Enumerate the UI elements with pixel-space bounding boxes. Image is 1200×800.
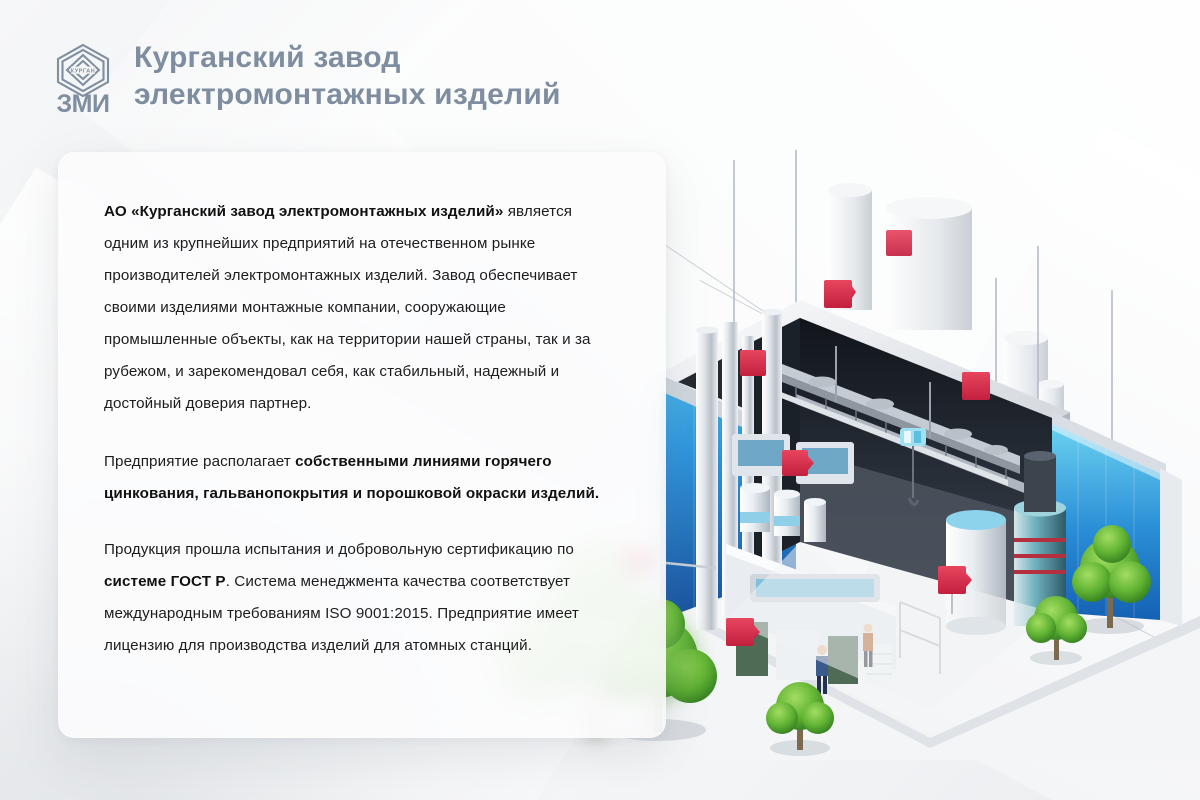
- paragraph-certification: Продукция прошла испытания и добровольну…: [104, 534, 620, 662]
- certification-prefix: Продукция прошла испытания и добровольну…: [104, 541, 574, 558]
- svg-text:ЗМИ: ЗМИ: [57, 90, 110, 118]
- page-title: Курганский завод электромонтажных издели…: [134, 38, 561, 113]
- page-header: КУРГАН ЗМИ Курганский завод электромонта…: [52, 38, 561, 120]
- marker-8: [886, 230, 912, 256]
- slide-canvas: КУРГАН ЗМИ Курганский завод электромонта…: [0, 0, 1200, 800]
- company-legal-name: АО «Курганский завод электромонтажных из…: [104, 203, 503, 220]
- svg-text:КУРГАН: КУРГАН: [71, 68, 95, 74]
- paragraph-capabilities: Предприятие располагает собственными лин…: [104, 446, 620, 510]
- capabilities-prefix: Предприятие располагает: [104, 453, 295, 470]
- paragraph-spacer-2: [104, 510, 620, 534]
- marker-1: [824, 280, 856, 308]
- marker-2: [740, 350, 766, 376]
- paragraph-spacer-1: [104, 420, 620, 446]
- paragraph-intro: АО «Курганский завод электромонтажных из…: [104, 196, 620, 420]
- paragraph-intro-body: является одним из крупнейших предприятий…: [104, 203, 591, 412]
- kzemi-logo-icon[interactable]: КУРГАН ЗМИ: [52, 42, 114, 120]
- certification-highlight: системе ГОСТ Р: [104, 573, 226, 590]
- company-description-card: АО «Курганский завод электромонтажных из…: [58, 152, 666, 738]
- marker-3: [962, 372, 990, 400]
